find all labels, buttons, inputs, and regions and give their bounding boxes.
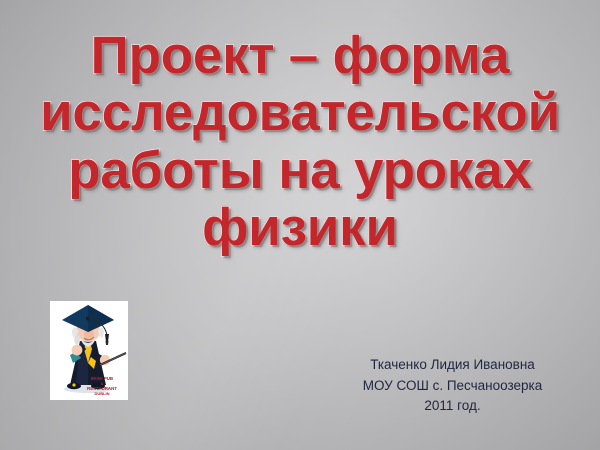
credits-school: МОУ СОШ с. Песчаноозерка: [330, 376, 575, 397]
graduate-professor-image: IRISH PUB & RESTAURANT DUBLIN: [50, 301, 128, 400]
title-line-1: Проект – форма: [0, 30, 600, 82]
credits-author: Ткаченко Лидия Ивановна: [330, 355, 575, 376]
graduate-professor-icon: IRISH PUB & RESTAURANT DUBLIN: [50, 301, 128, 400]
slide-title: Проект – форма исследовательской работы …: [0, 30, 600, 255]
title-line-2: исследовательской: [0, 87, 600, 139]
svg-text:DUBLIN: DUBLIN: [94, 391, 109, 396]
title-line-3: работы на уроках: [0, 145, 600, 197]
presentation-slide: Проект – форма исследовательской работы …: [0, 0, 600, 450]
credits-block: Ткаченко Лидия Ивановна МОУ СОШ с. Песча…: [330, 355, 575, 417]
title-line-4: физики: [0, 202, 600, 254]
svg-text:IRISH PUB: IRISH PUB: [91, 376, 113, 381]
credits-year: 2011 год.: [330, 396, 575, 417]
